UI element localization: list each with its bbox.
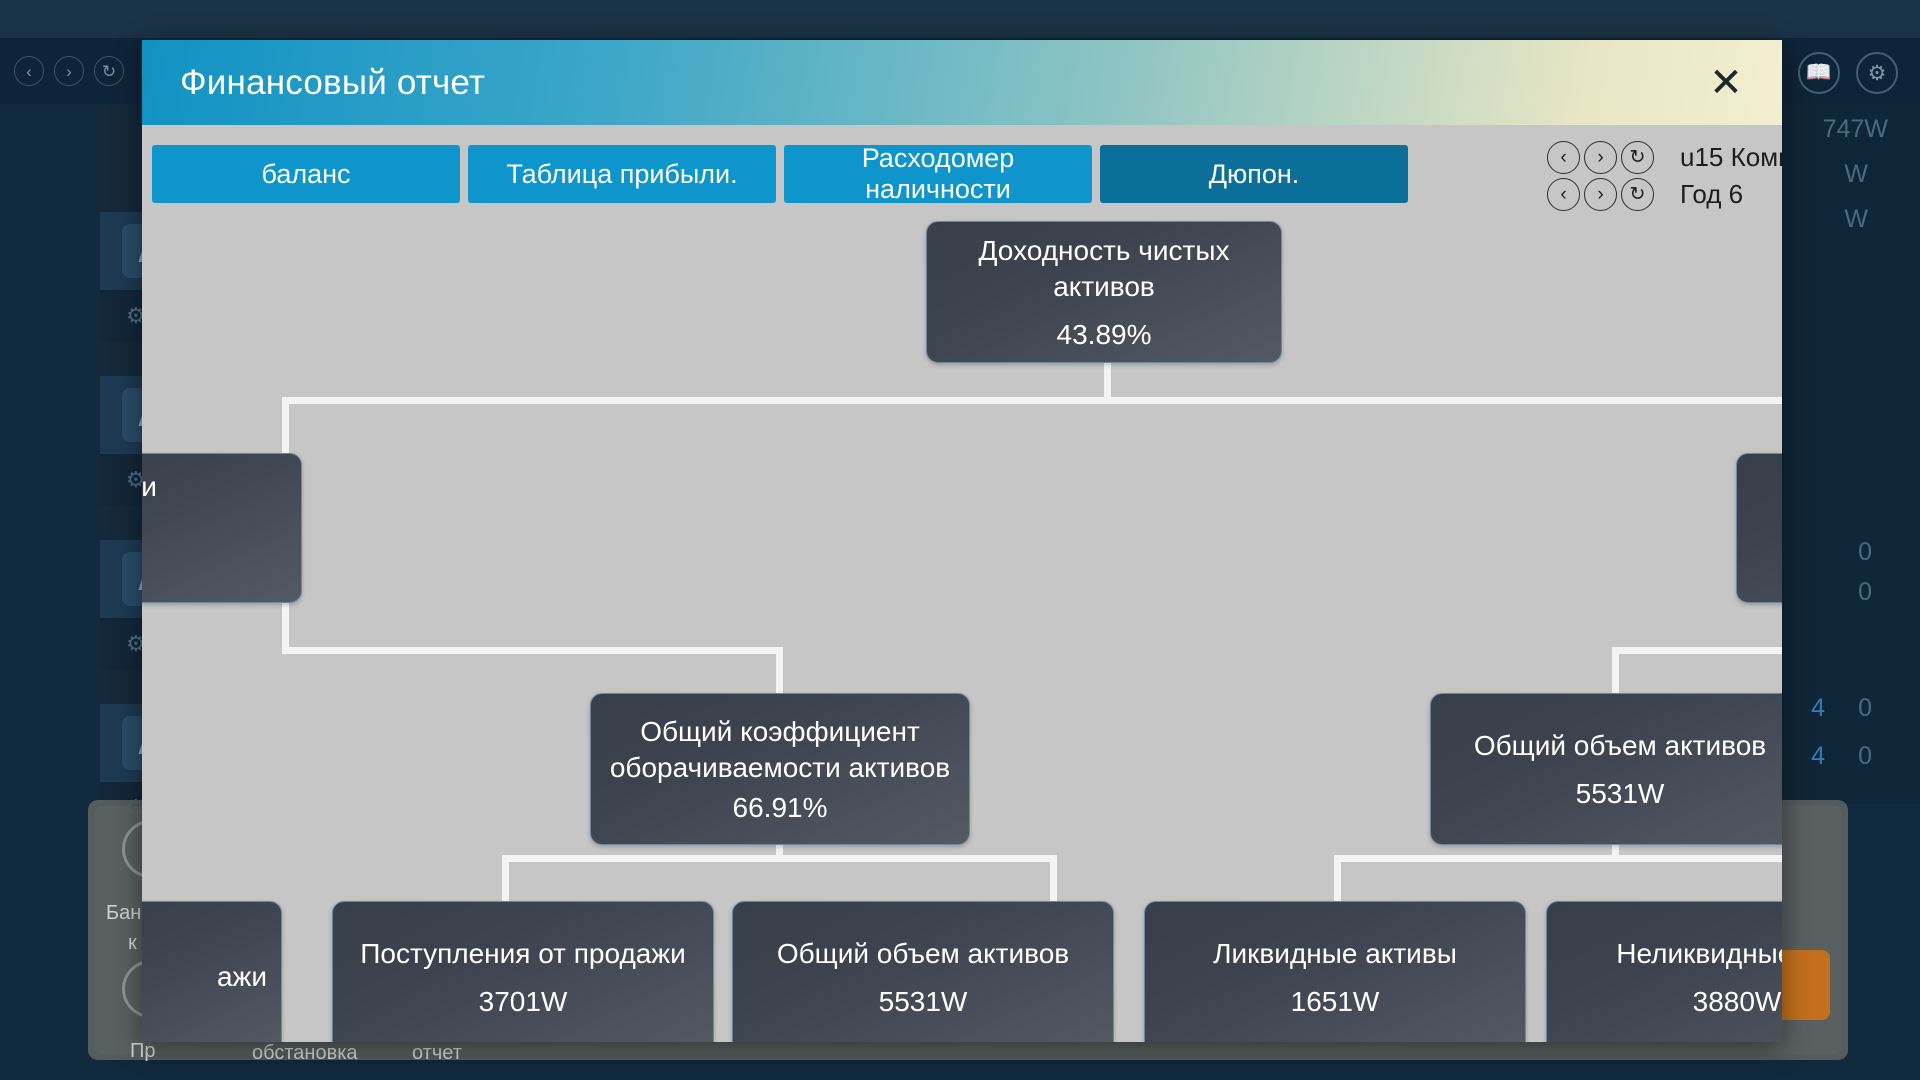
bg-bottom-label-1: к	[128, 932, 137, 955]
bg-right-icon-group: 📖 ⚙	[1798, 52, 1898, 94]
bg-value-0: 747W	[1823, 115, 1888, 144]
tab-dupont[interactable]: Дюпон.	[1100, 145, 1408, 203]
node-value: 5531W	[1576, 778, 1665, 810]
node-illiquid-assets[interactable]: Неликвидные акти 3880W	[1546, 901, 1782, 1042]
bg-value-2: W	[1844, 205, 1868, 234]
bg-bottom-label-0: Бан	[106, 902, 141, 925]
node-sales-revenue[interactable]: Поступления от продажи 3701W	[332, 901, 714, 1042]
bg-refresh-icon[interactable]: ↻	[94, 56, 124, 86]
node-label: а прибыли вам	[142, 469, 157, 541]
node-equity-multiplier[interactable]: Множит 1.	[1736, 453, 1782, 603]
bg-value-7: 4	[1811, 742, 1825, 771]
tab-balance[interactable]: баланс	[152, 145, 460, 203]
tab-bar: баланс Таблица прибыли. Расходомер налич…	[142, 125, 1782, 211]
financial-report-dialog: Финансовый отчет ✕ баланс Таблица прибыл…	[142, 40, 1782, 1042]
connector	[776, 647, 783, 693]
gear-icon[interactable]: ⚙	[1856, 52, 1898, 94]
company-refresh-icon[interactable]: ↻	[1621, 141, 1654, 174]
bg-value-4: 0	[1858, 578, 1872, 607]
node-value: 5531W	[879, 986, 968, 1018]
bg-value-8: 0	[1858, 742, 1872, 771]
node-sales-clipped[interactable]: ажи	[142, 901, 282, 1042]
year-selector: ‹ › ↻ Год 6	[1547, 178, 1782, 211]
bg-next-icon[interactable]: ›	[54, 56, 84, 86]
bg-bottom-label-2: Пр	[130, 1040, 156, 1063]
connector	[502, 855, 509, 901]
node-value: 1651W	[1291, 986, 1380, 1018]
connector	[1612, 647, 1619, 693]
connector	[1334, 855, 1341, 901]
connector	[502, 855, 1057, 862]
close-icon[interactable]: ✕	[1704, 61, 1748, 105]
bg-value-1: W	[1844, 160, 1868, 189]
bg-value-6: 0	[1858, 694, 1872, 723]
company-label: u15 Компания AI 15	[1680, 142, 1782, 173]
selector-group: ‹ › ↻ u15 Компания AI 15 ‹ › ↻ Год 6	[1547, 141, 1782, 211]
node-liquid-assets[interactable]: Ликвидные активы 1651W	[1144, 901, 1526, 1042]
node-return-on-net-assets[interactable]: Доходность чистых активов 43.89%	[926, 221, 1282, 363]
connector	[1050, 855, 1057, 901]
node-label: Поступления от продажи	[360, 936, 686, 972]
node-label: Доходность чистых активов	[943, 233, 1265, 305]
node-value: 43.89%	[1057, 319, 1152, 351]
connector	[282, 397, 289, 453]
bg-value-5: 4	[1811, 694, 1825, 723]
node-profit-margin[interactable]: а прибыли вам %	[142, 453, 302, 603]
bg-value-3: 0	[1858, 538, 1872, 567]
connector	[1612, 647, 1782, 654]
year-prev-icon[interactable]: ‹	[1547, 178, 1580, 211]
node-label: Общий коэффициент оборачиваемости активо…	[607, 714, 953, 786]
node-label: Неликвидные акти	[1616, 936, 1782, 972]
book-icon[interactable]: 📖	[1798, 52, 1840, 94]
bg-bottom-label-3: обстановка	[252, 1042, 358, 1065]
company-selector: ‹ › ↻ u15 Компания AI 15	[1547, 141, 1782, 174]
node-asset-turnover[interactable]: Общий коэффициент оборачиваемости активо…	[590, 693, 970, 845]
dupont-diagram: Доходность чистых активов 43.89% а прибы…	[142, 211, 1782, 1042]
node-label: ажи	[217, 959, 267, 995]
connector	[282, 647, 782, 654]
bg-bottom-label-4: отчет	[412, 1042, 462, 1065]
company-next-icon[interactable]: ›	[1584, 141, 1617, 174]
node-value: 66.91%	[733, 792, 828, 824]
connector	[282, 603, 289, 653]
node-label: Ликвидные активы	[1213, 936, 1457, 972]
node-value: 3701W	[479, 986, 568, 1018]
year-next-icon[interactable]: ›	[1584, 178, 1617, 211]
dialog-body: баланс Таблица прибыли. Расходомер налич…	[142, 125, 1782, 1042]
node-label: Общий объем активов	[1474, 728, 1766, 764]
connector	[1334, 855, 1782, 862]
node-label: Общий объем активов	[777, 936, 1069, 972]
bg-prev-icon[interactable]: ‹	[14, 56, 44, 86]
node-value: 3880W	[1693, 986, 1782, 1018]
top-strip	[0, 0, 1920, 38]
tab-profit-table[interactable]: Таблица прибыли.	[468, 145, 776, 203]
tab-cash-flow[interactable]: Расходомер наличности	[784, 145, 1092, 203]
node-total-assets-lower[interactable]: Общий объем активов 5531W	[732, 901, 1114, 1042]
year-refresh-icon[interactable]: ↻	[1621, 178, 1654, 211]
connector	[282, 397, 1782, 404]
page-title: Финансовый отчет	[180, 63, 485, 103]
company-prev-icon[interactable]: ‹	[1547, 141, 1580, 174]
dialog-title-bar: Финансовый отчет ✕	[142, 40, 1782, 125]
year-label: Год 6	[1680, 179, 1743, 210]
node-total-assets-upper[interactable]: Общий объем активов 5531W	[1430, 693, 1782, 845]
